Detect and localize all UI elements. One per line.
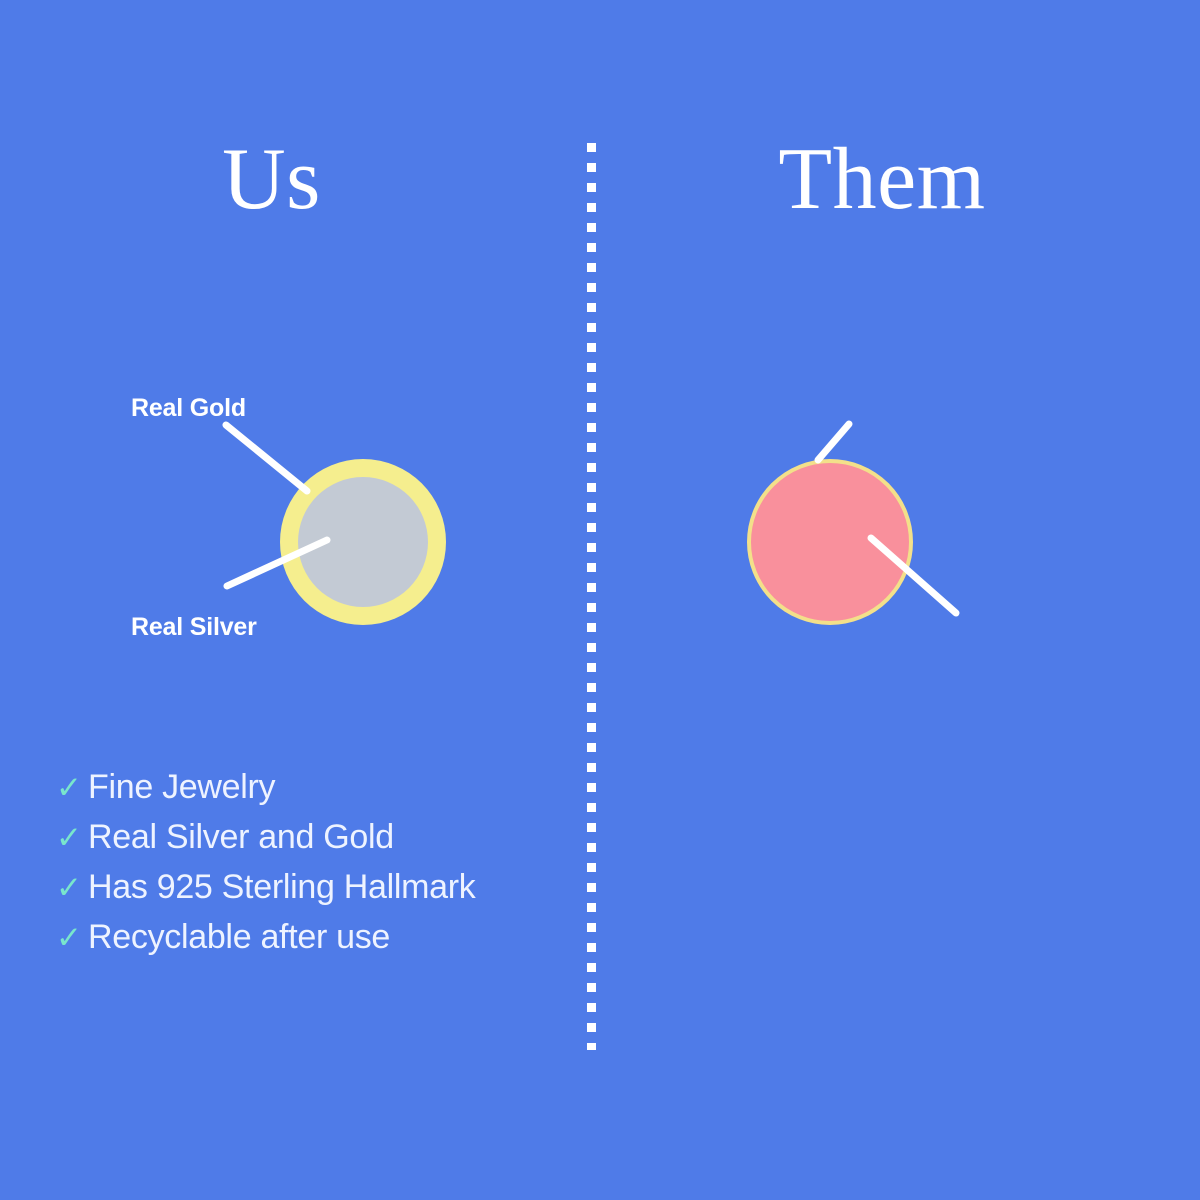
- page-title-us: Us: [0, 136, 565, 224]
- callout-real-silver: Real Silver: [131, 613, 257, 642]
- feature-label: Has 925 Sterling Hallmark: [88, 868, 475, 907]
- list-item: ✓ Has 925 Sterling Hallmark: [56, 868, 475, 918]
- diagram-them: [596, 370, 1200, 670]
- check-icon: ✓: [56, 772, 88, 803]
- list-item: ✓ Recyclable after use: [56, 918, 475, 968]
- feature-label: Fine Jewelry: [88, 768, 275, 807]
- page-title-them: Them: [580, 136, 1184, 224]
- feature-list-us: ✓ Fine Jewelry ✓ Real Silver and Gold ✓ …: [56, 768, 475, 968]
- gold-plated-alloy-cross-section: [596, 370, 1200, 670]
- solid-gold-over-silver-cross-section: [0, 370, 587, 670]
- column-divider: [587, 143, 596, 1050]
- feature-label: Recyclable after use: [88, 918, 390, 957]
- alloy-core-with-gold-plating: [749, 461, 911, 623]
- leader-line-real-gold: [226, 425, 307, 491]
- check-icon: ✓: [56, 872, 88, 903]
- check-icon: ✓: [56, 922, 88, 953]
- callout-real-gold: Real Gold: [131, 394, 246, 423]
- feature-label: Real Silver and Gold: [88, 818, 394, 857]
- leader-line-thin-layer-gold: [818, 424, 849, 460]
- check-icon: ✓: [56, 822, 88, 853]
- comparison-infographic: Us Real Gold Real Silver ✓ Fine Jewelry …: [0, 0, 1200, 1200]
- diagram-us: [0, 370, 587, 670]
- list-item: ✓ Fine Jewelry: [56, 768, 475, 818]
- column-them: Them Thin Layer Gold Alloy ✗ Costume Jew…: [596, 0, 1200, 1200]
- list-item: ✓ Real Silver and Gold: [56, 818, 475, 868]
- column-us: Us Real Gold Real Silver ✓ Fine Jewelry …: [0, 0, 587, 1200]
